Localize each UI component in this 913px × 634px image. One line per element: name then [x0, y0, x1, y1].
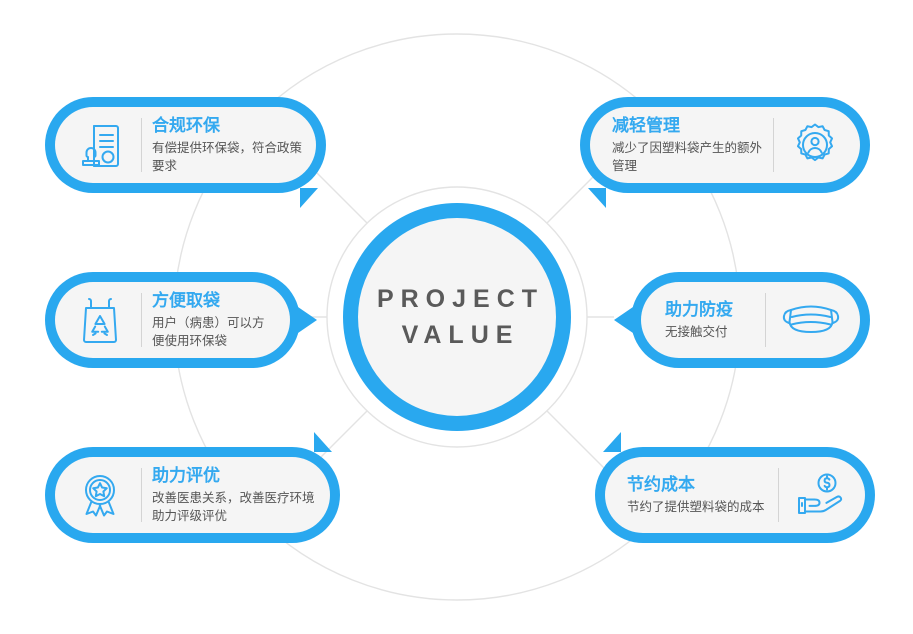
card-description: 有偿提供环保袋，符合政策要求 [152, 139, 302, 175]
center-title-line-1: PROJECT [370, 281, 544, 317]
card-title: 节约成本 [627, 474, 768, 495]
face-mask-icon [776, 299, 846, 341]
card-description: 用户（病患）可以方便使用环保袋 [152, 314, 276, 350]
card-epidemic-prevention-body: 助力防疫 无接触交付 [641, 282, 860, 358]
card-divider [778, 468, 779, 522]
card-reduce-management-text: 减轻管理 减少了因塑料袋产生的额外管理 [604, 115, 763, 176]
card-description: 无接触交付 [665, 323, 755, 341]
card-reduce-management[interactable]: 减轻管理 减少了因塑料袋产生的额外管理 [580, 97, 870, 193]
card-tail [298, 307, 317, 333]
card-cost-saving[interactable]: 节约成本 节约了提供塑料袋的成本 [595, 447, 875, 543]
card-rating-excellence[interactable]: 助力评优 改善医患关系，改善医疗环境助力评级评优 [45, 447, 340, 543]
card-title: 合规环保 [152, 115, 302, 136]
card-reduce-management-body: 减轻管理 减少了因塑料袋产生的额外管理 [590, 107, 860, 183]
card-tail [314, 432, 332, 452]
card-epidemic-prevention[interactable]: 助力防疫 无接触交付 [631, 272, 870, 368]
card-title: 方便取袋 [152, 290, 276, 311]
center-hub: PROJECT VALUE [343, 203, 571, 431]
card-compliance[interactable]: 合规环保 有偿提供环保袋，符合政策要求 [45, 97, 326, 193]
card-divider [773, 118, 774, 172]
card-easy-bag-text: 方便取袋 用户（病患）可以方便使用环保袋 [152, 290, 276, 351]
card-divider [765, 293, 766, 347]
card-divider [141, 468, 142, 522]
award-medal-icon [69, 471, 131, 519]
card-description: 节约了提供塑料袋的成本 [627, 498, 768, 516]
card-tail [603, 432, 621, 452]
card-title: 减轻管理 [612, 115, 763, 136]
card-epidemic-prevention-text: 助力防疫 无接触交付 [655, 299, 755, 341]
gear-person-icon [784, 121, 846, 169]
card-cost-saving-text: 节约成本 节约了提供塑料袋的成本 [619, 474, 768, 516]
card-cost-saving-body: 节约成本 节约了提供塑料袋的成本 [605, 457, 865, 533]
card-rating-excellence-text: 助力评优 改善医患关系，改善医疗环境助力评级评优 [152, 465, 316, 526]
card-divider [141, 293, 142, 347]
card-description: 减少了因塑料袋产生的额外管理 [612, 139, 763, 175]
card-rating-excellence-body: 助力评优 改善医患关系，改善医疗环境助力评级评优 [55, 457, 330, 533]
card-compliance-text: 合规环保 有偿提供环保袋，符合政策要求 [152, 115, 302, 176]
card-tail [300, 188, 318, 208]
card-compliance-body: 合规环保 有偿提供环保袋，符合政策要求 [55, 107, 316, 183]
center-title-line-2: VALUE [395, 317, 520, 353]
card-easy-bag-body: 方便取袋 用户（病患）可以方便使用环保袋 [55, 282, 290, 358]
infographic-canvas: PROJECT VALUE 合规环保 有偿提供环保袋，符合政策 [0, 0, 913, 634]
card-description: 改善医患关系，改善医疗环境助力评级评优 [152, 489, 316, 525]
document-stamp-icon [69, 121, 131, 169]
card-easy-bag[interactable]: 方便取袋 用户（病患）可以方便使用环保袋 [45, 272, 300, 368]
hand-coin-icon [789, 472, 851, 518]
card-tail [588, 188, 606, 208]
card-title: 助力评优 [152, 465, 316, 486]
card-tail [614, 307, 633, 333]
recycle-bag-icon [69, 296, 131, 344]
card-title: 助力防疫 [665, 299, 755, 320]
card-divider [141, 118, 142, 172]
